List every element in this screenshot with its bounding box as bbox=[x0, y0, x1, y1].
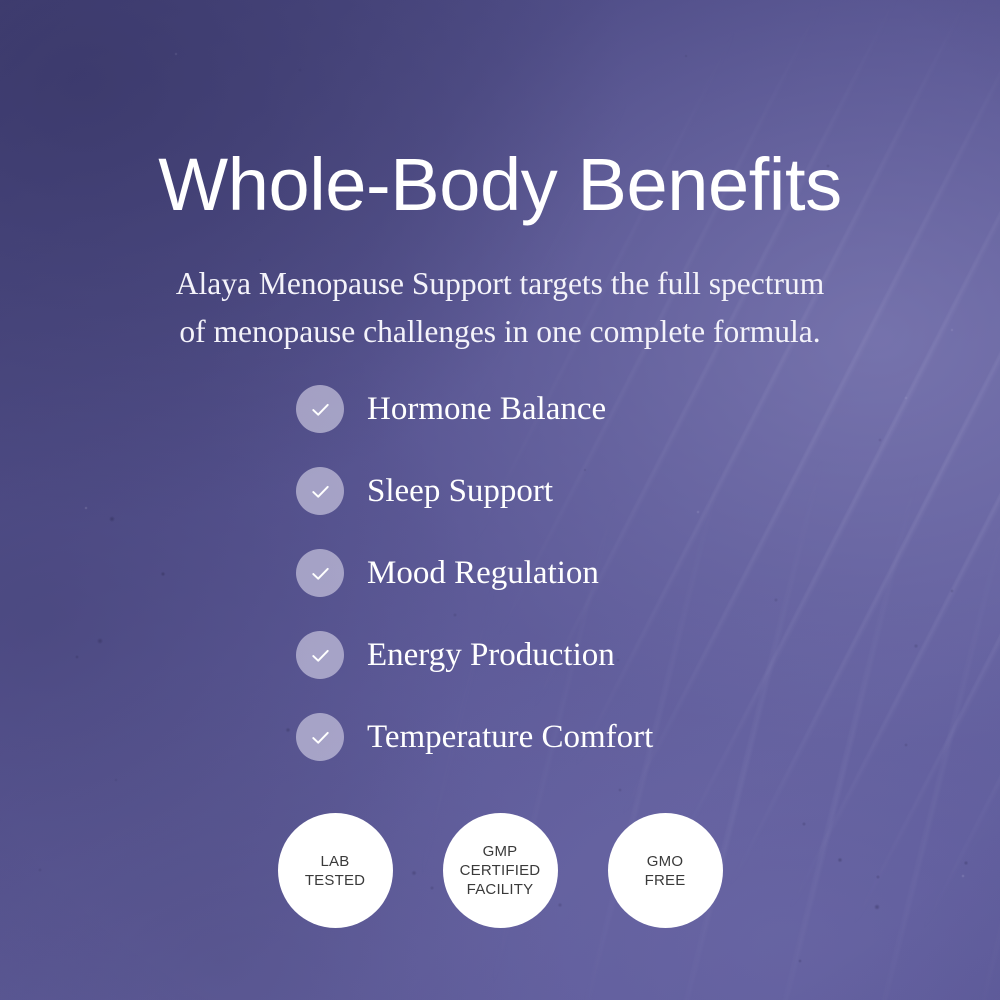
badge-line: TESTED bbox=[305, 871, 365, 890]
badge-lab-tested: LAB TESTED bbox=[278, 813, 393, 928]
subtitle-line-2: of menopause challenges in one complete … bbox=[0, 308, 1000, 356]
list-item: Energy Production bbox=[296, 614, 856, 696]
badge-line: GMP bbox=[460, 842, 541, 861]
subtitle-line-1: Alaya Menopause Support targets the full… bbox=[0, 260, 1000, 308]
benefit-label: Temperature Comfort bbox=[367, 721, 653, 754]
badge-line: LAB bbox=[305, 852, 365, 871]
promo-graphic: Whole-Body Benefits Alaya Menopause Supp… bbox=[0, 0, 1000, 1000]
check-icon bbox=[296, 713, 344, 761]
badge-gmo-free: GMO FREE bbox=[608, 813, 723, 928]
check-icon bbox=[296, 467, 344, 515]
page-title: Whole-Body Benefits bbox=[0, 148, 1000, 222]
check-icon bbox=[296, 549, 344, 597]
benefit-label: Energy Production bbox=[367, 639, 615, 672]
badge-line: FACILITY bbox=[460, 880, 541, 899]
list-item: Sleep Support bbox=[296, 450, 856, 532]
list-item: Hormone Balance bbox=[296, 368, 856, 450]
list-item: Mood Regulation bbox=[296, 532, 856, 614]
badge-line: FREE bbox=[645, 871, 686, 890]
check-icon bbox=[296, 385, 344, 433]
benefits-list: Hormone Balance Sleep Support Mood Regul… bbox=[296, 368, 856, 778]
benefit-label: Sleep Support bbox=[367, 475, 553, 508]
list-item: Temperature Comfort bbox=[296, 696, 856, 778]
badge-gmp-certified-facility: GMP CERTIFIED FACILITY bbox=[443, 813, 558, 928]
check-icon bbox=[296, 631, 344, 679]
benefit-label: Mood Regulation bbox=[367, 557, 599, 590]
benefit-label: Hormone Balance bbox=[367, 393, 606, 426]
content-container: Whole-Body Benefits Alaya Menopause Supp… bbox=[0, 0, 1000, 1000]
badge-line: CERTIFIED bbox=[460, 861, 541, 880]
badge-line: GMO bbox=[645, 852, 686, 871]
trust-badges: LAB TESTED GMP CERTIFIED FACILITY GMO FR… bbox=[0, 813, 1000, 928]
page-subtitle: Alaya Menopause Support targets the full… bbox=[0, 260, 1000, 356]
